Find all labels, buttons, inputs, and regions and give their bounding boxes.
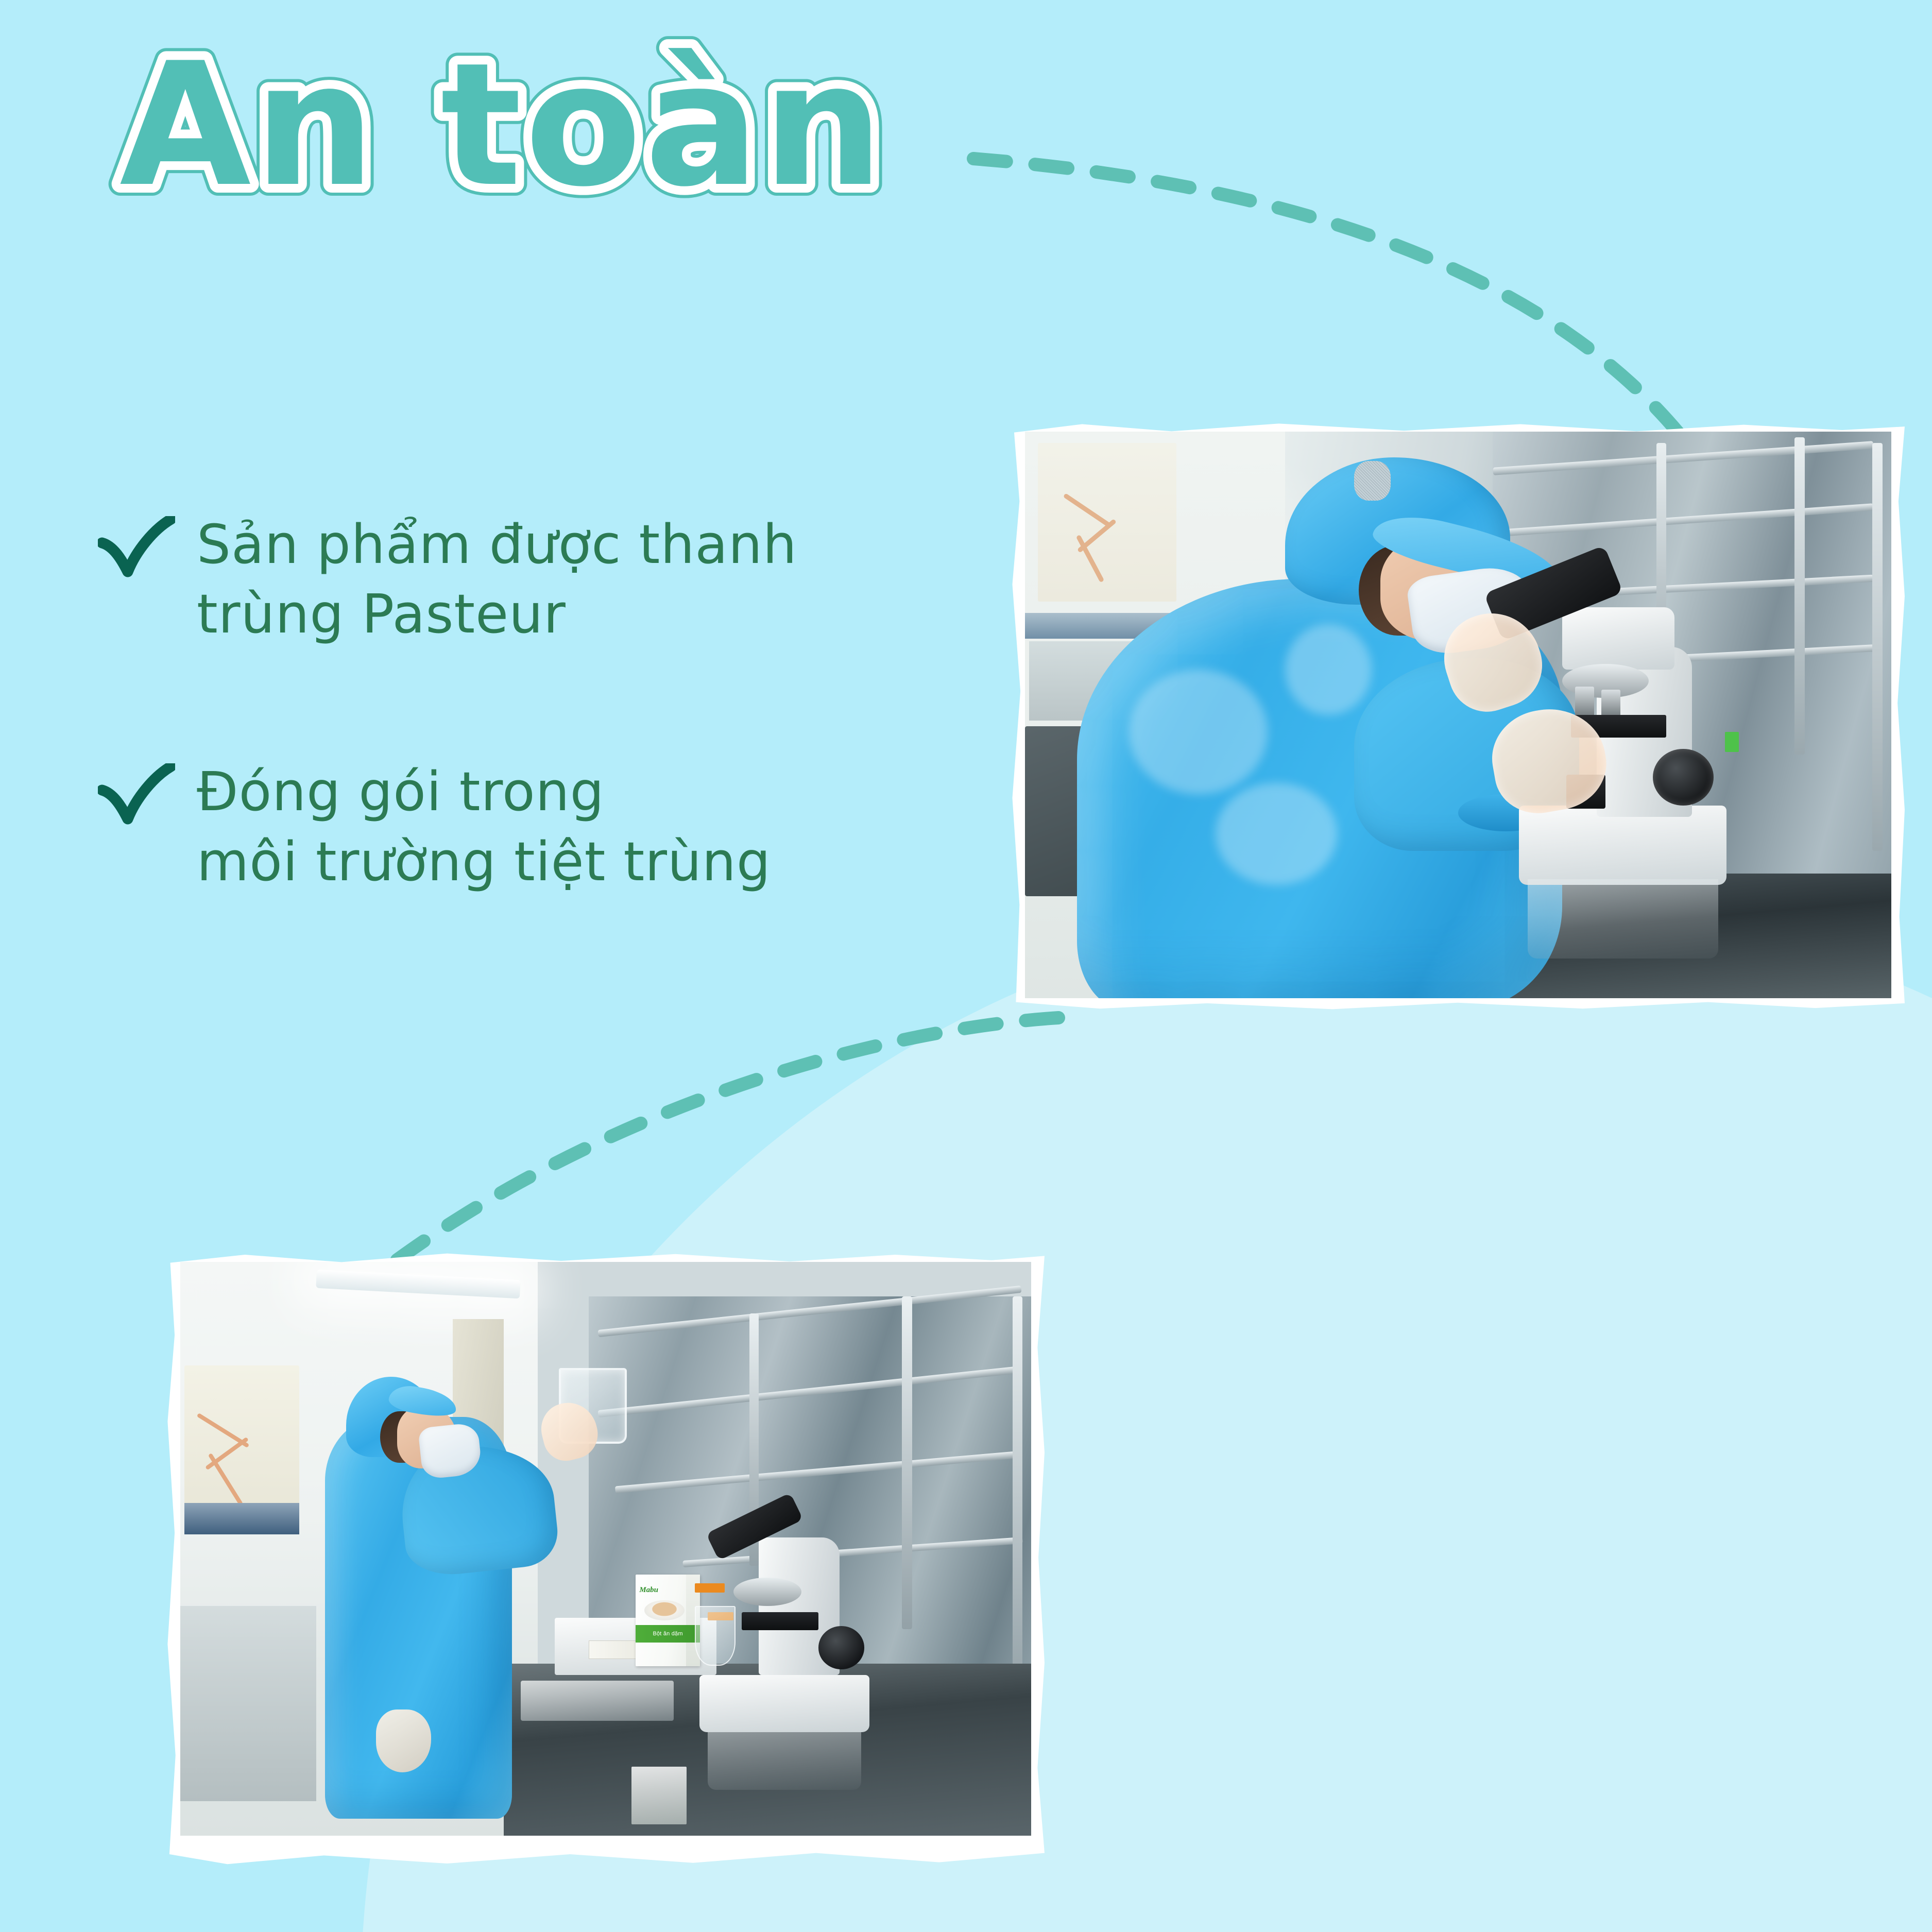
photo-microscope-inspection-image [1025,432,1891,998]
product-brand: Mabu [639,1582,685,1598]
page-title: An toàn An toàn An toàn [119,49,1150,219]
photo-lab-technician-beaker-image: Mabu Bột ăn dặm [180,1262,1031,1836]
photo-lab-technician-beaker: Mabu Bột ăn dặm [166,1249,1045,1867]
list-item: Sản phẩm được thanh trùng Pasteur [98,510,984,649]
product-box: Mabu Bột ăn dặm [636,1575,700,1666]
list-item: Đóng gói trong môi trường tiệt trùng [98,757,984,896]
list-item-label: Đóng gói trong môi trường tiệt trùng [197,757,771,896]
title-fill: An toàn [119,26,886,224]
check-icon [98,763,175,830]
list-item-label: Sản phẩm được thanh trùng Pasteur [197,510,797,649]
product-label: Bột ăn dặm [636,1625,700,1643]
poster-canvas: An toàn An toàn An toàn [0,0,1932,1932]
feature-list: Sản phẩm được thanh trùng Pasteur Đóng g… [98,510,984,1005]
photo-microscope-inspection [1011,418,1905,1012]
check-icon [98,516,175,583]
